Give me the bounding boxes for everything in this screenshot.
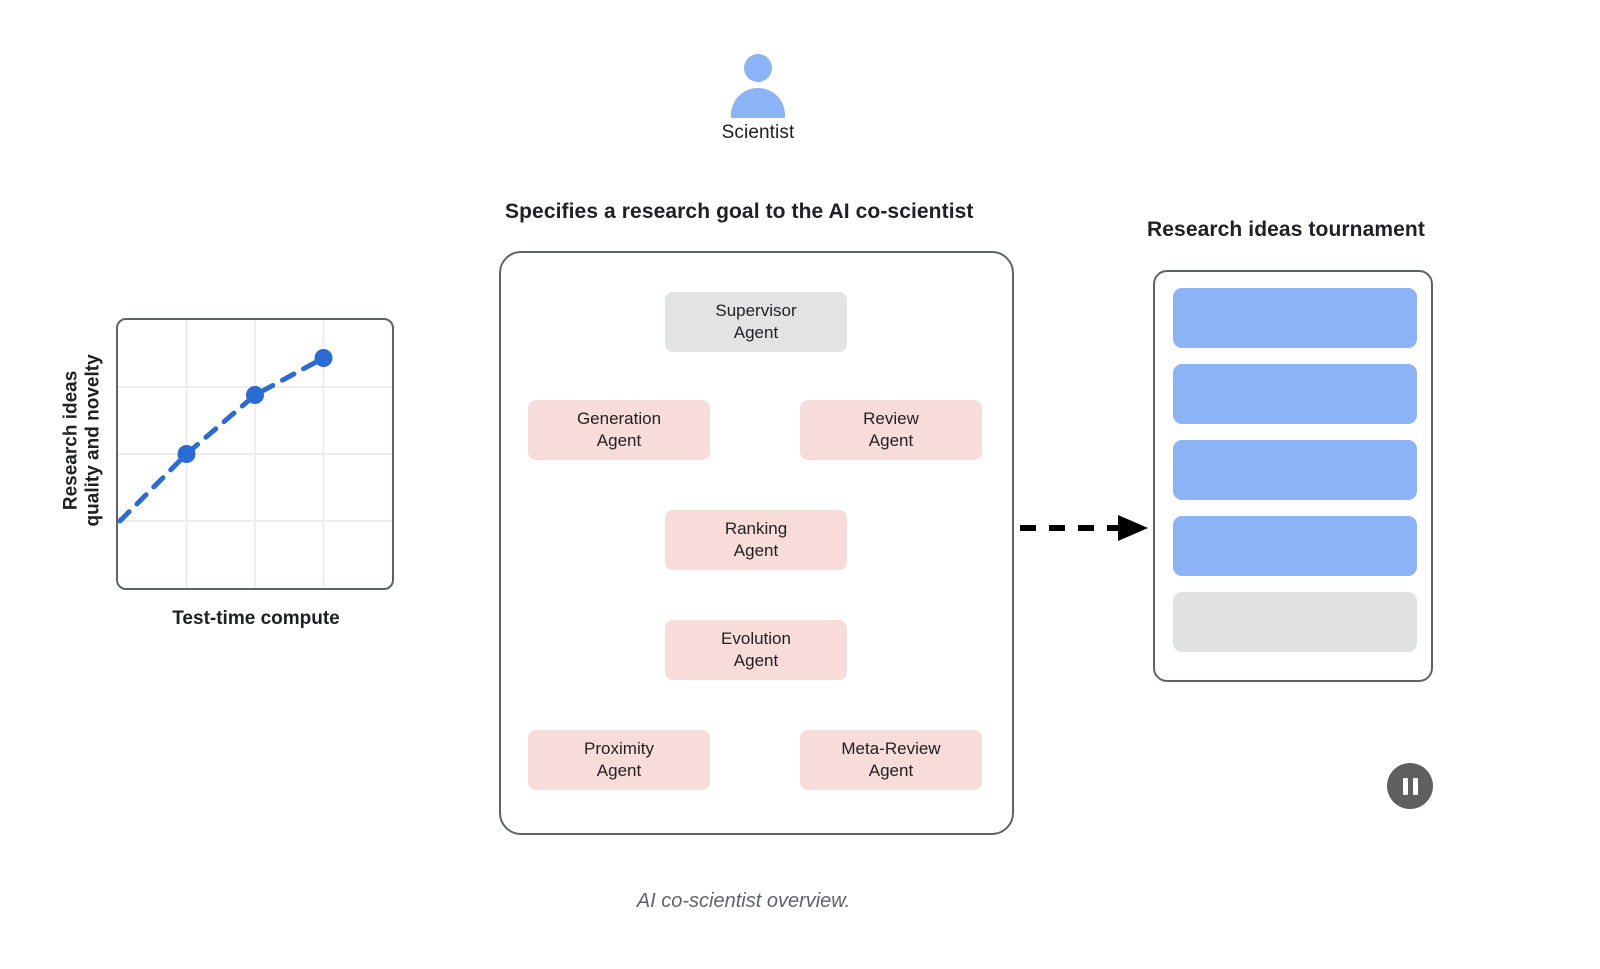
chart-series-line: [120, 358, 324, 521]
agent-box-label-line2: Agent: [715, 322, 796, 344]
agent-box-label-line2: Agent: [577, 430, 661, 452]
agent-box-label: RankingAgent: [725, 518, 787, 562]
agent-box-review-agent[interactable]: ReviewAgent: [800, 400, 982, 460]
agent-box-label-line1: Generation: [577, 408, 661, 430]
figure-canvas: Scientist Research ideas quality and nov…: [0, 0, 1600, 969]
tournament-bar-rank-5[interactable]: [1173, 592, 1417, 652]
test-time-compute-chart: Research ideas quality and novelty: [30, 310, 430, 660]
center-panel-title: Specifies a research goal to the AI co-s…: [505, 200, 974, 224]
agent-box-label-line2: Agent: [584, 760, 654, 782]
tournament-title: Research ideas tournament: [1147, 218, 1425, 242]
pause-icon-bar-right: [1413, 778, 1418, 795]
agent-box-ranking-agent[interactable]: RankingAgent: [665, 510, 847, 570]
scientist-label: Scientist: [672, 122, 844, 144]
agent-box-label-line1: Evolution: [721, 628, 791, 650]
dashed-arrow-right-icon: [1016, 508, 1156, 548]
agent-box-label-line1: Supervisor: [715, 300, 796, 322]
person-icon-head: [744, 54, 772, 82]
agent-box-label: ReviewAgent: [863, 408, 919, 452]
agent-box-label-line1: Ranking: [725, 518, 787, 540]
agent-box-generation-agent[interactable]: GenerationAgent: [528, 400, 710, 460]
chart-x-axis-label: Test-time compute: [76, 608, 436, 630]
chart-y-axis-label-line1: Research ideas: [61, 325, 83, 555]
chart-y-axis-label: Research ideas quality and novelty: [61, 325, 106, 555]
tournament-bar-rank-4[interactable]: [1173, 516, 1417, 576]
agent-box-evolution-agent[interactable]: EvolutionAgent: [665, 620, 847, 680]
ai-co-scientist-panel: SupervisorAgentGenerationAgentReviewAgen…: [499, 251, 1014, 835]
agent-box-label-line1: Meta-Review: [841, 738, 940, 760]
agent-box-label-line2: Agent: [841, 760, 940, 782]
agent-box-meta-review-agent[interactable]: Meta-ReviewAgent: [800, 730, 982, 790]
tournament-bar-rank-2[interactable]: [1173, 364, 1417, 424]
pause-icon-bar-left: [1403, 778, 1408, 795]
agent-box-label-line1: Proximity: [584, 738, 654, 760]
agent-box-label: SupervisorAgent: [715, 300, 796, 344]
scientist-actor: Scientist: [672, 52, 844, 144]
agent-box-label-line1: Review: [863, 408, 919, 430]
chart-y-axis-label-line2: quality and novelty: [83, 325, 105, 555]
person-icon-body: [731, 88, 785, 118]
tournament-bar-rank-1[interactable]: [1173, 288, 1417, 348]
pause-button[interactable]: [1387, 763, 1433, 809]
research-ideas-tournament-panel: [1153, 270, 1433, 682]
agent-box-label: EvolutionAgent: [721, 628, 791, 672]
agent-box-proximity-agent[interactable]: ProximityAgent: [528, 730, 710, 790]
chart-gridlines: [118, 320, 392, 588]
agent-box-supervisor-agent[interactable]: SupervisorAgent: [665, 292, 847, 352]
agent-box-label: GenerationAgent: [577, 408, 661, 452]
agent-box-label-line2: Agent: [721, 650, 791, 672]
agent-box-label-line2: Agent: [863, 430, 919, 452]
chart-plot-frame: [116, 318, 394, 590]
figure-caption: AI co-scientist overview.: [0, 890, 1487, 913]
chart-plot-area: [118, 320, 392, 588]
agent-box-label: ProximityAgent: [584, 738, 654, 782]
person-icon: [726, 52, 790, 116]
agent-box-label: Meta-ReviewAgent: [841, 738, 940, 782]
agent-box-label-line2: Agent: [725, 540, 787, 562]
tournament-bar-rank-3[interactable]: [1173, 440, 1417, 500]
